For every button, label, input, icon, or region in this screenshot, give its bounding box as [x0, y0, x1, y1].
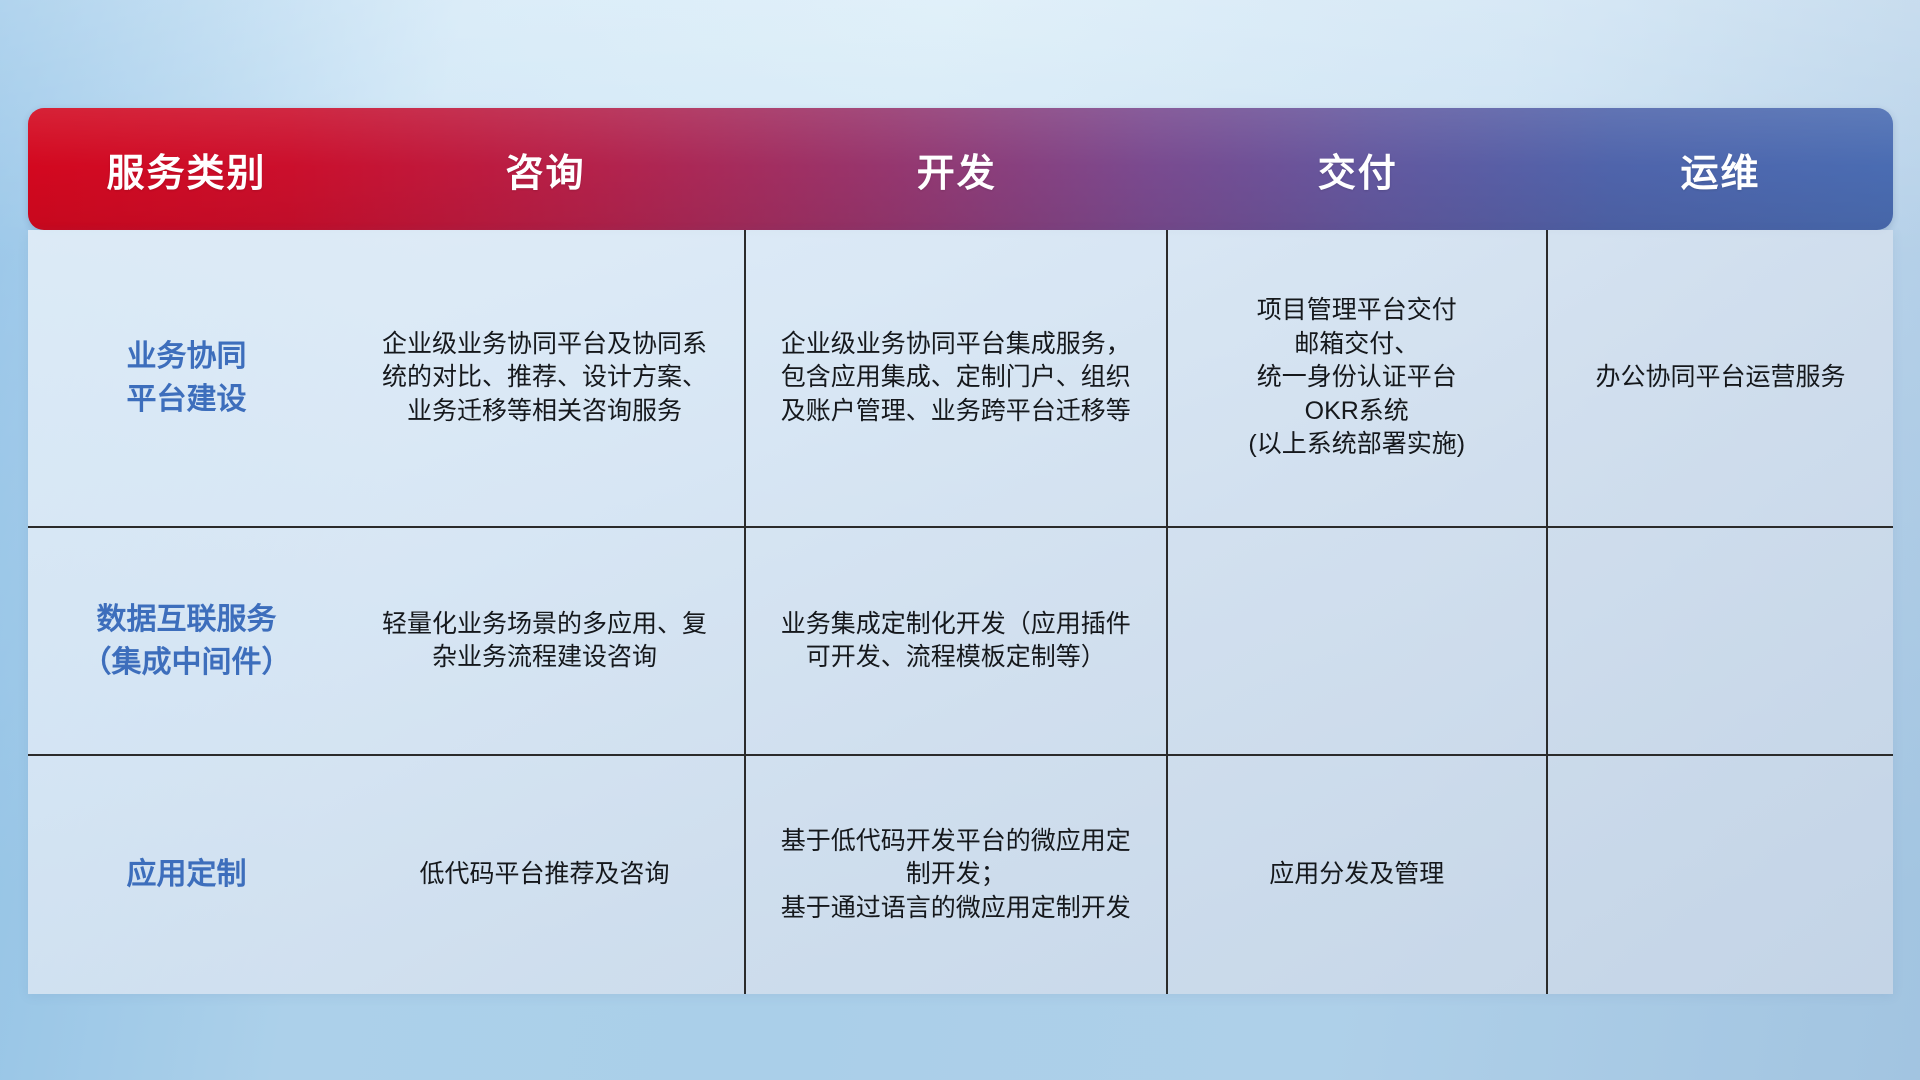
table-row: 数据互联服务 （集成中间件） 轻量化业务场景的多应用、复 杂业务流程建设咨询 业… — [28, 526, 1893, 754]
cell-consulting: 轻量化业务场景的多应用、复 杂业务流程建设咨询 — [345, 528, 746, 754]
table-body: 业务协同 平台建设 企业级业务协同平台及协同系 统的对比、推荐、设计方案、 业务… — [28, 230, 1893, 994]
row-category-label: 应用定制 — [28, 756, 345, 994]
table-header-cell-category: 服务类别 — [28, 108, 345, 230]
cell-delivery: 应用分发及管理 — [1168, 756, 1548, 994]
table-row: 应用定制 低代码平台推荐及咨询 基于低代码开发平台的微应用定 制开发； 基于通过… — [28, 754, 1893, 994]
cell-development: 业务集成定制化开发（应用插件 可开发、流程模板定制等） — [746, 528, 1167, 754]
table-row: 业务协同 平台建设 企业级业务协同平台及协同系 统的对比、推荐、设计方案、 业务… — [28, 230, 1893, 526]
service-matrix-table: 服务类别 咨询 开发 交付 运维 业务协同 平台建设 企业级业务协同平台及协同系… — [28, 108, 1893, 948]
cell-operations: 办公协同平台运营服务 — [1548, 230, 1893, 526]
row-category-label: 数据互联服务 （集成中间件） — [28, 528, 345, 754]
cell-consulting: 低代码平台推荐及咨询 — [345, 756, 746, 994]
table-header-row: 服务类别 咨询 开发 交付 运维 — [28, 108, 1893, 230]
cell-development: 基于低代码开发平台的微应用定 制开发； 基于通过语言的微应用定制开发 — [746, 756, 1167, 994]
table-header-cell-consulting: 咨询 — [345, 108, 746, 230]
table-header-cell-operations: 运维 — [1548, 108, 1893, 230]
cell-delivery — [1168, 528, 1548, 754]
cell-development: 企业级业务协同平台集成服务， 包含应用集成、定制门户、组织 及账户管理、业务跨平… — [746, 230, 1167, 526]
table-header-cell-development: 开发 — [746, 108, 1167, 230]
table-header-cell-delivery: 交付 — [1168, 108, 1548, 230]
cell-operations — [1548, 528, 1893, 754]
row-category-label: 业务协同 平台建设 — [28, 230, 345, 526]
cell-consulting: 企业级业务协同平台及协同系 统的对比、推荐、设计方案、 业务迁移等相关咨询服务 — [345, 230, 746, 526]
cell-operations — [1548, 756, 1893, 994]
cell-delivery: 项目管理平台交付 邮箱交付、 统一身份认证平台 OKR系统 (以上系统部署实施) — [1168, 230, 1548, 526]
